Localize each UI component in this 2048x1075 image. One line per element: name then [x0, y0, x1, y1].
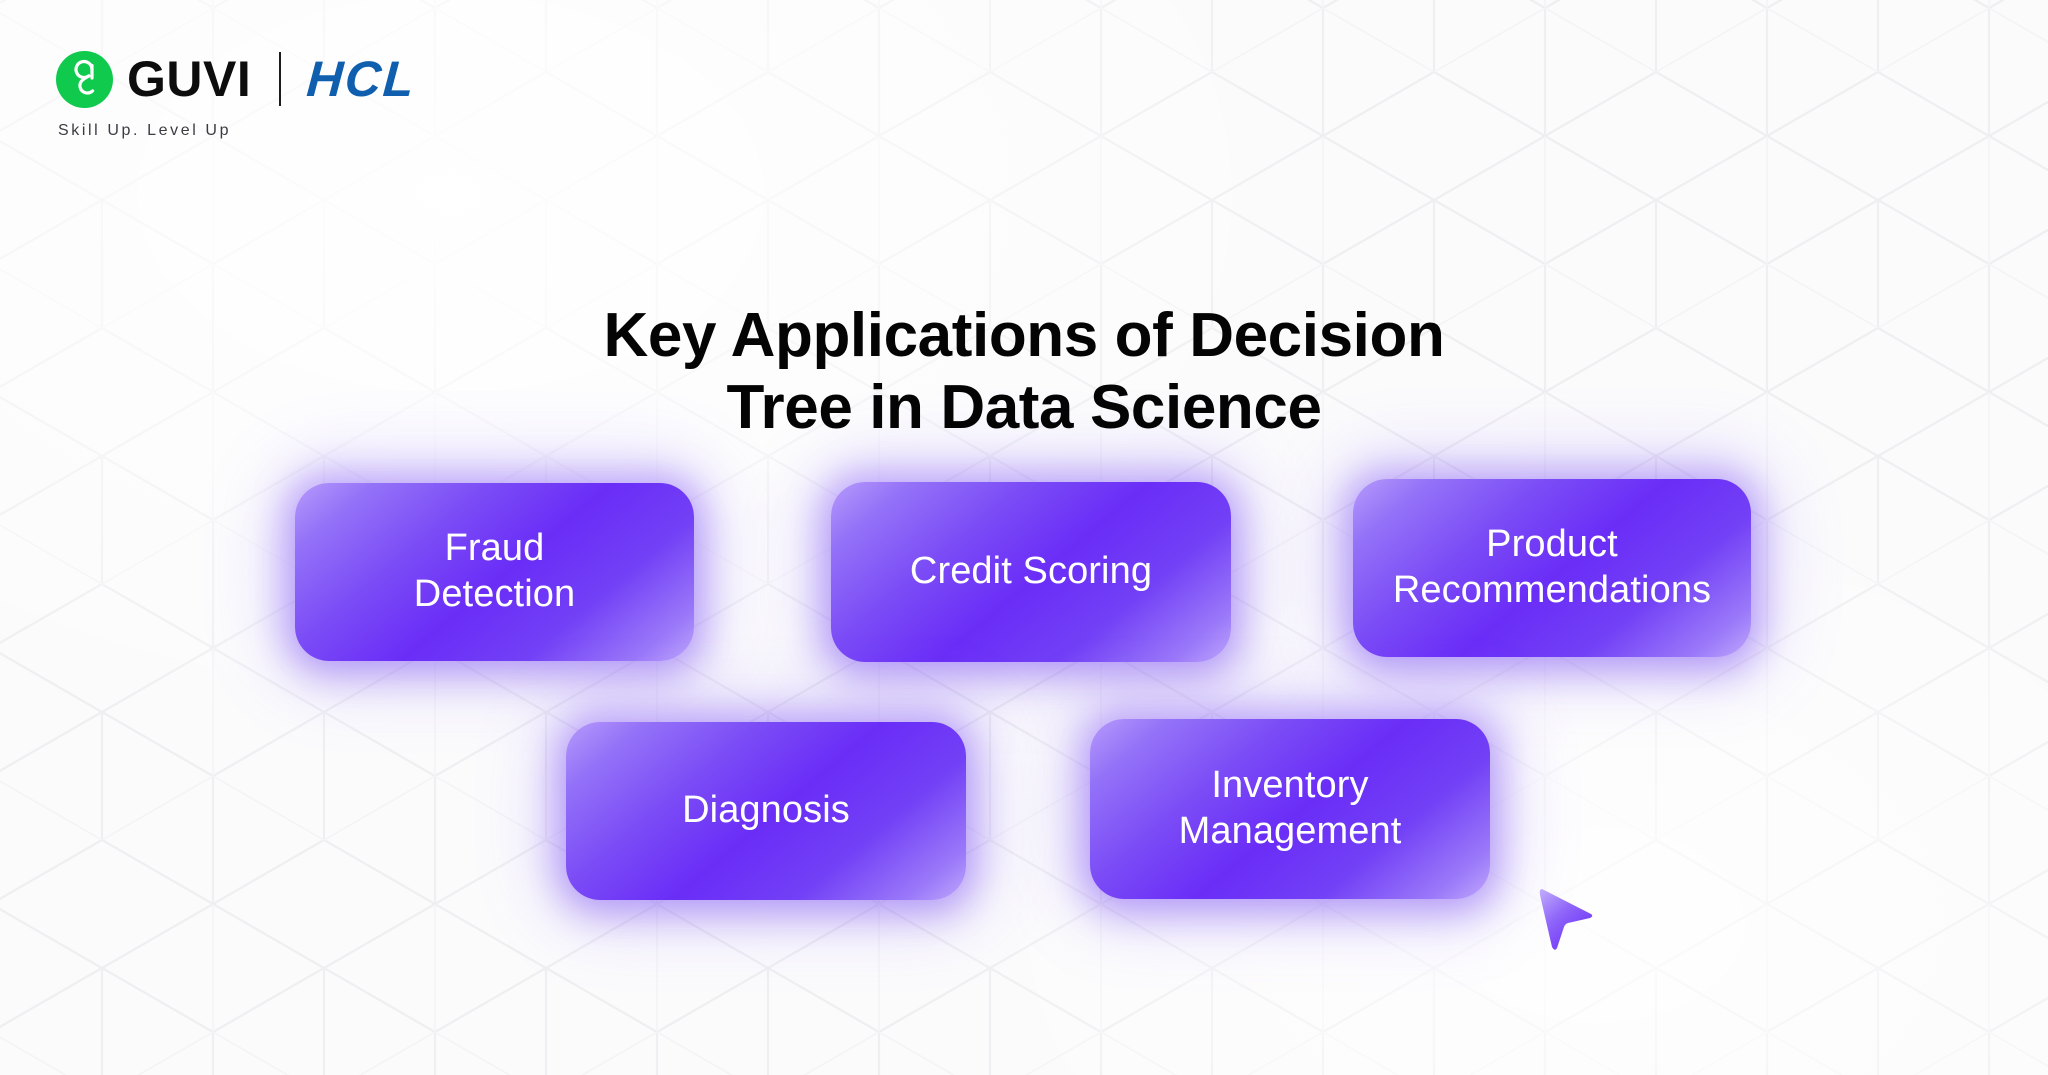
card-label-line-1: Credit Scoring [910, 549, 1152, 595]
hcl-wordmark: HCL [306, 54, 418, 104]
guvi-wordmark: GUVI [127, 54, 251, 104]
card-label: Diagnosis [682, 788, 850, 834]
card-label: Product Recommendations [1393, 522, 1711, 613]
card-product-recommendations[interactable]: Product Recommendations [1353, 479, 1751, 657]
card-label: Fraud Detection [414, 526, 575, 617]
application-cards-group: Fraud Detection Credit Scoring Product R… [0, 0, 2048, 1075]
vertical-divider-icon [279, 52, 281, 106]
card-diagnosis[interactable]: Diagnosis [566, 722, 966, 900]
card-label-line-1: Diagnosis [682, 788, 850, 834]
guvi-g-mark-icon [56, 51, 113, 108]
card-label-line-1: Inventory [1179, 763, 1402, 809]
page-title-line-2: Tree in Data Science [0, 372, 2048, 445]
card-fraud-detection[interactable]: Fraud Detection [295, 483, 694, 661]
brand-logo-lockup: GUVI HCL Skill Up. Level Up [56, 48, 416, 140]
card-label-line-2: Detection [414, 572, 575, 618]
page-title: Key Applications of Decision Tree in Dat… [0, 300, 2048, 445]
card-label: Inventory Management [1179, 763, 1402, 854]
logo-row: GUVI HCL [56, 48, 416, 110]
slide-canvas: GUVI HCL Skill Up. Level Up Key Applicat… [0, 0, 2048, 1075]
card-inventory-management[interactable]: Inventory Management [1090, 719, 1490, 899]
page-title-line-1: Key Applications of Decision [0, 300, 2048, 373]
card-credit-scoring[interactable]: Credit Scoring [831, 482, 1231, 662]
card-label-line-2: Recommendations [1393, 568, 1711, 614]
brand-tagline: Skill Up. Level Up [58, 122, 231, 140]
card-label-line-1: Product [1393, 522, 1711, 568]
card-label: Credit Scoring [910, 549, 1152, 595]
card-label-line-1: Fraud [414, 526, 575, 572]
card-label-line-2: Management [1179, 809, 1402, 855]
